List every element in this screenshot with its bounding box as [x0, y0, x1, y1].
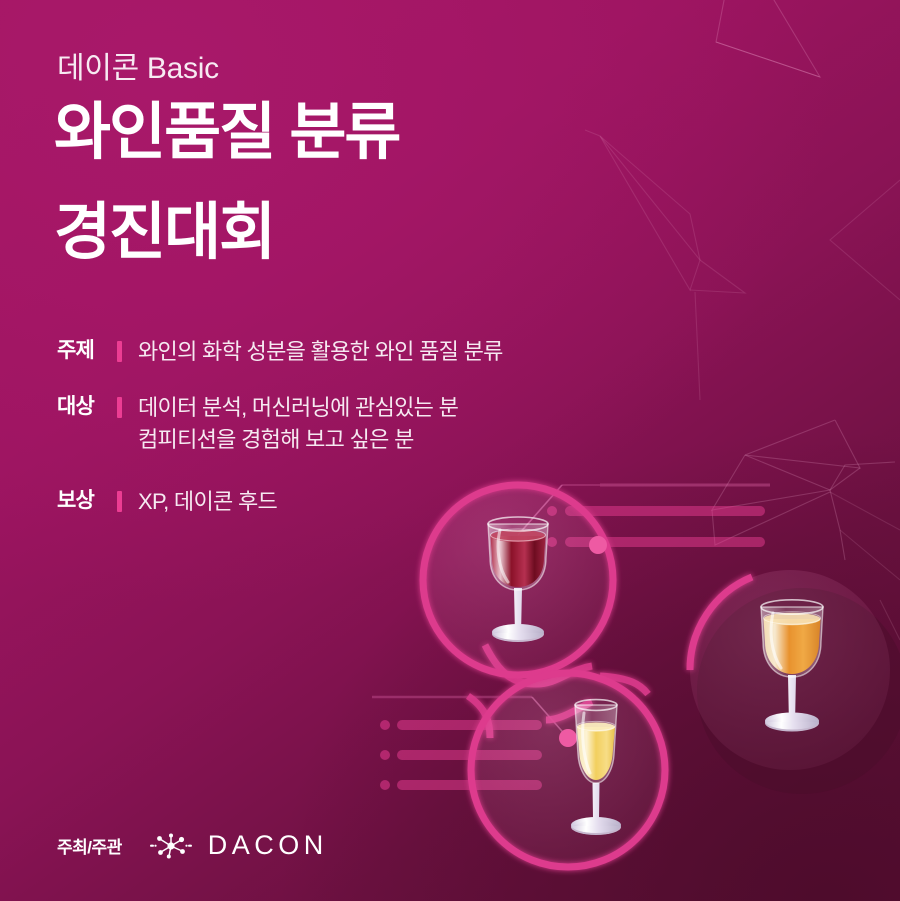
node-connector-dot	[559, 729, 577, 747]
info-value-target-1: 데이터 분석, 머신러닝에 관심있는 분	[138, 392, 697, 424]
bg-poly-3	[600, 136, 700, 290]
node-connector-dot	[589, 536, 607, 554]
info-separator-bar	[117, 397, 122, 418]
red-wine-node[interactable]	[423, 485, 613, 675]
organizer-label: 주최/주관	[57, 833, 122, 858]
footer: 주최/주관	[57, 830, 328, 861]
champagne-node[interactable]	[471, 673, 665, 867]
bg-poly-4	[690, 260, 745, 293]
poster-title-line2: 경진대회	[54, 200, 274, 267]
poster-title-line1: 와인품질 분류	[54, 100, 399, 167]
info-label-target: 대상	[57, 392, 115, 422]
poster-canvas: 데이콘 Basic 와인품질 분류 경진대회 주제 와인의 화학 성분을 활용한…	[0, 0, 900, 901]
bg-poly-14	[830, 180, 900, 300]
info-separator-bar	[117, 491, 122, 512]
info-values-target: 데이터 분석, 머신러닝에 관심있는 분 컴피티션을 경험해 보고 싶은 분	[138, 392, 697, 456]
info-row-target: 대상 데이터 분석, 머신러닝에 관심있는 분 컴피티션을 경험해 보고 싶은 …	[57, 392, 697, 456]
info-value-topic-1: 와인의 화학 성분을 활용한 와인 품질 분류	[138, 336, 697, 368]
brand-mark: DACON	[150, 830, 328, 861]
bg-poly-1	[716, 0, 820, 77]
info-label-reward: 보상	[57, 486, 115, 516]
info-label-topic: 주제	[57, 336, 115, 366]
bg-poly-1b	[716, 42, 820, 77]
wine-node-graphic	[300, 470, 900, 901]
brand-name: DACON	[208, 830, 328, 861]
poster-eyebrow: 데이콘 Basic	[57, 54, 219, 84]
white-wine-node[interactable]	[690, 570, 900, 794]
info-row-topic: 주제 와인의 화학 성분을 활용한 와인 품질 분류	[57, 336, 697, 368]
info-separator-bar	[117, 341, 122, 362]
dacon-network-logo-icon	[150, 832, 192, 860]
info-values-topic: 와인의 화학 성분을 활용한 와인 품질 분류	[138, 336, 697, 368]
bg-poly-2	[585, 130, 700, 260]
info-value-target-2: 컴피티션을 경험해 보고 싶은 분	[138, 424, 697, 456]
bg-poly-6	[745, 420, 860, 468]
